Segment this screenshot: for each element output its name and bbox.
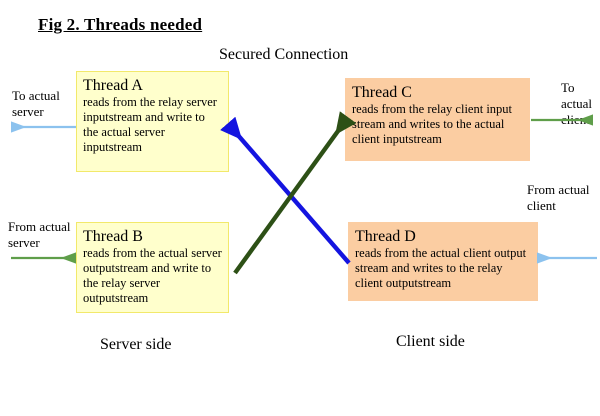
to-actual-client-label: To actual client [561,80,600,128]
server-side-label: Server side [100,336,172,354]
from-actual-client-label: From actual client [527,182,589,214]
thread-a-box: Thread A reads from the relay server inp… [76,71,229,172]
thread-d-description: reads from the actual client output stre… [355,246,532,291]
thread-d-to-thread-a-arrow [230,126,349,263]
thread-c-box: Thread C reads from the relay client inp… [345,78,530,161]
thread-b-description: reads from the actual server outputstrea… [83,246,223,306]
thread-b-box: Thread B reads from the actual server ou… [76,222,229,313]
from-actual-server-label: From actual server [8,219,70,251]
secured-connection-label: Secured Connection [219,46,348,64]
thread-b-title: Thread B [83,227,223,246]
figure-title: Fig 2. Threads needed [38,15,202,35]
to-actual-server-label: To actual server [12,88,60,120]
thread-d-box: Thread D reads from the actual client ou… [348,222,538,301]
thread-c-title: Thread C [352,83,524,102]
thread-c-description: reads from the relay client input stream… [352,102,524,147]
thread-d-title: Thread D [355,227,532,246]
diagram-canvas: Fig 2. Threads needed Secured Connection… [0,0,600,416]
thread-b-to-thread-c-arrow [235,120,346,273]
thread-a-description: reads from the relay server inputstream … [83,95,223,155]
client-side-label: Client side [396,333,465,351]
thread-a-title: Thread A [83,76,223,95]
